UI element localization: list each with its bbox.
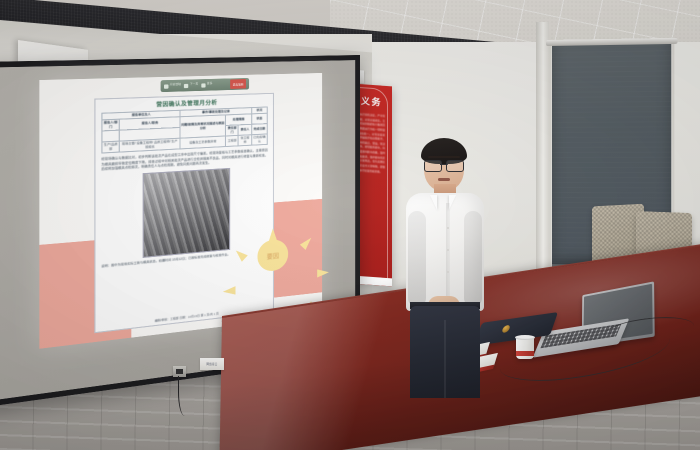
paper-cup[interactable] xyxy=(516,337,534,359)
cup-rim xyxy=(515,335,535,340)
td: 工程部 xyxy=(226,136,239,147)
collar-right xyxy=(449,195,456,210)
toolbar-label: 下一页 xyxy=(190,84,198,87)
lens-right xyxy=(446,160,464,172)
plate-label: 网络接口 xyxy=(206,362,217,366)
wall-network-plate: 网络接口 xyxy=(200,358,224,370)
toolbar-label: 更多 xyxy=(207,83,213,86)
sleeve-right xyxy=(464,211,482,307)
toolbar-item-more[interactable]: 更多 xyxy=(201,83,212,88)
lens-left xyxy=(424,160,442,172)
th: 状态 xyxy=(251,114,267,125)
pointer-icon xyxy=(184,83,188,87)
th: 责任人 xyxy=(239,125,252,136)
toolbar-item-start[interactable]: 开始放映 xyxy=(164,83,181,88)
outlet-socket-icon xyxy=(176,369,183,374)
shirt-placket xyxy=(446,203,450,307)
sun-graphic: 要因 xyxy=(239,218,307,293)
sun-ray xyxy=(223,286,236,296)
more-icon xyxy=(201,83,205,87)
collar-left xyxy=(430,195,437,210)
td: 张工程师 xyxy=(239,135,252,146)
cup-band xyxy=(516,351,534,356)
outlet-cord xyxy=(178,376,189,416)
toolbar-label: 开始放映 xyxy=(170,84,181,87)
meeting-room-photo: 党的纪律处分条例规定：党员有权向党的上级组织直至中央提出请求、申诉和控告，并要求… xyxy=(0,0,700,450)
presenter-mouth xyxy=(438,178,450,181)
sun-core: 要因 xyxy=(257,238,288,272)
td: 已完成/确认 xyxy=(251,134,267,145)
presenter-shirt xyxy=(406,193,484,311)
td: 生产/品质部 xyxy=(102,142,120,154)
slide-document: 营因确认及管理月分析 报告单位及人 事件/事故处理及记录 状况 报告人/部门 报… xyxy=(94,93,274,333)
th: 报告人/部门 xyxy=(102,120,120,132)
presenter-brow xyxy=(428,156,460,158)
presenter-trousers xyxy=(410,306,480,398)
exit-slideshow-button[interactable]: 退出放映 xyxy=(230,79,246,89)
sun-ray xyxy=(317,268,329,277)
presentation-toolbar[interactable]: 开始放映 下一页 更多 退出放映 xyxy=(161,78,249,92)
document-embedded-photo xyxy=(143,168,231,258)
th: 责任部门 xyxy=(226,125,239,136)
sleeve-left xyxy=(408,211,426,307)
toolbar-item-next[interactable]: 下一页 xyxy=(184,83,198,88)
pen-icon xyxy=(164,84,168,88)
presenter xyxy=(398,138,494,398)
sun-label: 要因 xyxy=(267,250,279,260)
glasses-icon xyxy=(423,160,465,170)
th: 问题/故障及异常状况描述与原因分析 xyxy=(180,115,226,138)
sleeve-badge-icon xyxy=(501,325,511,333)
